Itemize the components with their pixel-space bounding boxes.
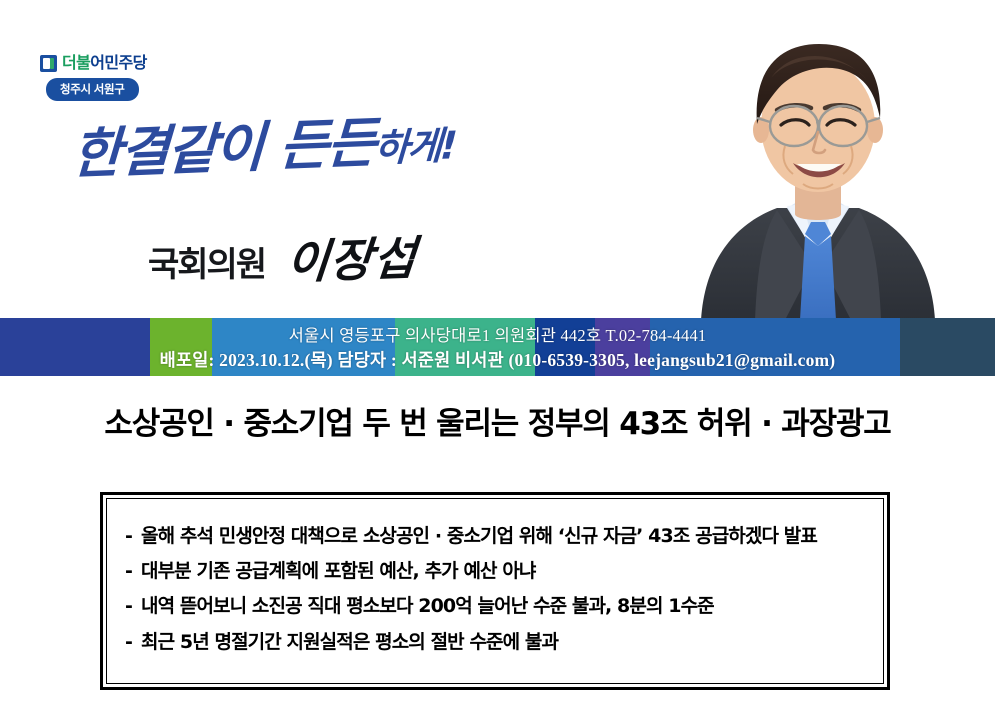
party-name-part1: 더불 (62, 55, 90, 72)
party-name: 더불어민주당 (62, 56, 147, 72)
bullet-text: 대부분 기존 공급계획에 포함된 예산, 추가 예산 아냐 (141, 558, 863, 584)
press-release-page: 더불어민주당 청주시 서원구 한결같이 든든하게! 국회의원 이장섭 (0, 0, 995, 708)
bullet-dash: - (125, 558, 132, 584)
party-logo-block: 더불어민주당 청주시 서원구 (40, 55, 190, 101)
party-logo-row: 더불어민주당 (40, 55, 190, 72)
slogan-main: 한결같이 든든 (70, 111, 376, 186)
bullet-dash: - (125, 593, 132, 619)
release-contact-line: 배포일: 2023.10.12.(목) 담당자 : 서준원 비서관 (010-6… (160, 347, 836, 372)
slogan-suffix: 하게! (373, 123, 456, 170)
list-item: - 대부분 기존 공급계획에 포함된 예산, 추가 예산 아냐 (125, 558, 863, 584)
bullet-text: 최근 5년 명절기간 지원실적은 평소의 절반 수준에 불과 (141, 629, 863, 655)
dp-flag-logo-icon (40, 55, 57, 72)
press-release-headline: 소상공인 · 중소기업 두 번 울리는 정부의 43조 허위 · 과장광고 (0, 398, 995, 443)
summary-points-inner: - 올해 추석 민생안정 대책으로 소상공인 · 중소기업 위해 ‘신규 자금’… (106, 498, 884, 684)
letterhead: 더불어민주당 청주시 서원구 한결같이 든든하게! 국회의원 이장섭 (0, 0, 995, 318)
campaign-slogan: 한결같이 든든하게! (71, 110, 553, 183)
banner-text-group: 서울시 영등포구 의사당대로1 의원회관 442호 T.02-784-4441 … (0, 318, 995, 376)
member-name-line: 국회의원 이장섭 (148, 224, 417, 290)
member-portrait-photo (653, 8, 983, 320)
list-item: - 내역 뜯어보니 소진공 직대 평소보다 200억 늘어난 수준 불과, 8분… (125, 593, 863, 619)
member-title: 국회의원 (148, 237, 265, 286)
bullet-dash: - (125, 629, 132, 655)
party-name-part2: 어민주당 (90, 55, 146, 72)
office-address-line: 서울시 영등포구 의사당대로1 의원회관 442호 T.02-784-4441 (289, 322, 707, 346)
district-badge: 청주시 서원구 (46, 78, 139, 101)
bullet-dash: - (125, 523, 132, 549)
list-item: - 최근 5년 명절기간 지원실적은 평소의 절반 수준에 불과 (125, 629, 863, 655)
member-name: 이장섭 (284, 222, 420, 293)
summary-points-box: - 올해 추석 민생안정 대책으로 소상공인 · 중소기업 위해 ‘신규 자금’… (100, 492, 890, 690)
contact-banner: 서울시 영등포구 의사당대로1 의원회관 442호 T.02-784-4441 … (0, 318, 995, 376)
list-item: - 올해 추석 민생안정 대책으로 소상공인 · 중소기업 위해 ‘신규 자금’… (125, 523, 863, 549)
bullet-text: 내역 뜯어보니 소진공 직대 평소보다 200억 늘어난 수준 불과, 8분의 … (141, 593, 863, 619)
bullet-text: 올해 추석 민생안정 대책으로 소상공인 · 중소기업 위해 ‘신규 자금’ 4… (141, 523, 863, 549)
